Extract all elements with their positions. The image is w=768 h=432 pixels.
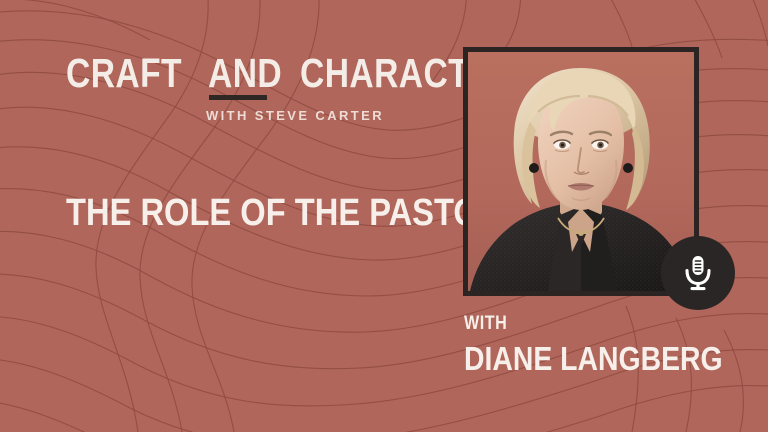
brand-logo-line: CRAFT AND CHARACTER	[66, 55, 386, 93]
host-credit: WITH STEVE CARTER	[66, 108, 386, 123]
podcast-episode-card: CRAFT AND CHARACTER WITH STEVE CARTER TH…	[0, 0, 768, 432]
guest-photo	[468, 52, 694, 291]
guest-name: DIANE LANGBERG	[464, 342, 723, 375]
microphone-badge	[661, 236, 735, 310]
brand-underline-rule	[209, 95, 267, 100]
brand-word-and: AND	[208, 55, 282, 93]
guest-credit: WITH DIANE LANGBERG	[464, 314, 765, 375]
guest-portrait-illustration	[468, 52, 694, 291]
guest-with-label: WITH	[464, 314, 720, 333]
episode-title: THE ROLE OF THE PASTOR	[66, 194, 502, 232]
microphone-icon	[680, 254, 716, 292]
brand-logo: CRAFT AND CHARACTER WITH STEVE CARTER	[66, 55, 386, 123]
brand-conjunction-wrap: AND	[208, 55, 298, 93]
brand-word-craft: CRAFT	[66, 55, 182, 93]
